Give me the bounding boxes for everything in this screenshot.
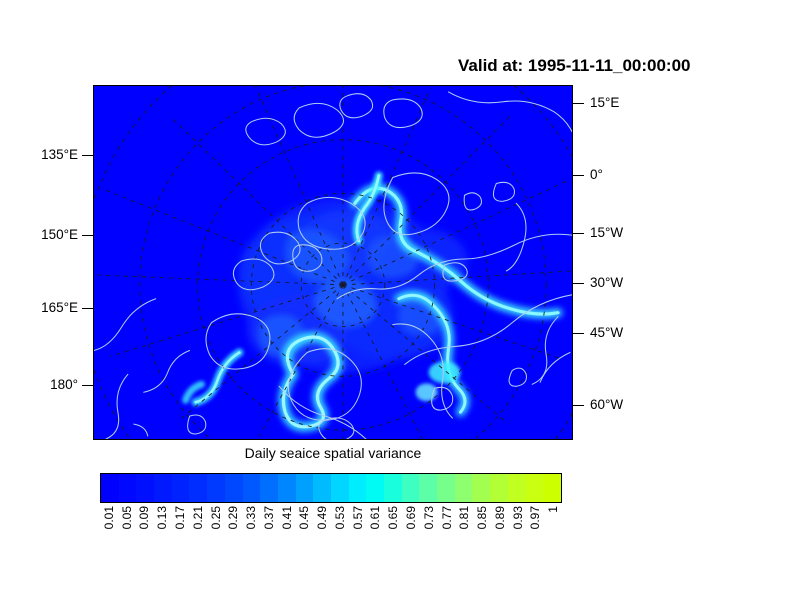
colorbar-tick-25: 1 xyxy=(547,506,559,513)
colorbar xyxy=(100,473,562,503)
colorbar-tick-6: 0.25 xyxy=(210,506,222,529)
plot-caption: Daily seaice spatial variance xyxy=(93,445,573,461)
axis-right-label-0: 15°E xyxy=(590,96,619,110)
colorbar-tick-16: 0.65 xyxy=(387,506,399,529)
tick-left-0 xyxy=(82,155,93,156)
colorbar-swatch-0 xyxy=(101,474,119,502)
colorbar-swatch-20 xyxy=(455,474,473,502)
colorbar-swatch-15 xyxy=(366,474,384,502)
tick-right-2 xyxy=(573,233,584,234)
colorbar-tick-14: 0.57 xyxy=(352,506,364,529)
colorbar-swatch-6 xyxy=(207,474,225,502)
axis-right-label-1: 0° xyxy=(590,168,603,182)
axis-right-label-3: 30°W xyxy=(590,276,623,290)
colorbar-tick-18: 0.73 xyxy=(423,506,435,529)
tick-right-0 xyxy=(573,103,584,104)
tick-left-3 xyxy=(82,385,93,386)
colorbar-tick-10: 0.41 xyxy=(281,506,293,529)
axis-left-label-0: 135°E xyxy=(41,148,78,162)
colorbar-swatch-19 xyxy=(437,474,455,502)
map-plot-area xyxy=(93,85,573,440)
colorbar-tick-11: 0.45 xyxy=(298,506,310,529)
colorbar-tick-20: 0.81 xyxy=(458,506,470,529)
colorbar-tick-7: 0.29 xyxy=(227,506,239,529)
colorbar-swatch-7 xyxy=(225,474,243,502)
axis-right-label-5: 60°W xyxy=(590,398,623,412)
colorbar-tick-23: 0.93 xyxy=(512,506,524,529)
colorbar-swatch-21 xyxy=(472,474,490,502)
tick-right-5 xyxy=(573,405,584,406)
colorbar-tick-24: 0.97 xyxy=(529,506,541,529)
axis-left-label-2: 165°E xyxy=(41,301,78,315)
tick-left-2 xyxy=(82,308,93,309)
colorbar-tick-13: 0.53 xyxy=(334,506,346,529)
colorbar-tick-19: 0.77 xyxy=(441,506,453,529)
colorbar-tick-3: 0.13 xyxy=(156,506,168,529)
colorbar-swatch-4 xyxy=(172,474,190,502)
colorbar-tick-12: 0.49 xyxy=(316,506,328,529)
colorbar-swatch-11 xyxy=(296,474,314,502)
colorbar-swatch-2 xyxy=(136,474,154,502)
colorbar-tick-0: 0.01 xyxy=(103,506,115,529)
colorbar-tick-9: 0.37 xyxy=(263,506,275,529)
colorbar-tick-22: 0.89 xyxy=(494,506,506,529)
colorbar-tick-15: 0.61 xyxy=(369,506,381,529)
colorbar-swatch-5 xyxy=(189,474,207,502)
colorbar-tick-4: 0.17 xyxy=(174,506,186,529)
colorbar-tick-labels: 0.010.050.090.130.170.210.250.290.330.37… xyxy=(100,506,562,566)
colorbar-swatch-9 xyxy=(260,474,278,502)
colorbar-tick-17: 0.69 xyxy=(405,506,417,529)
tick-right-4 xyxy=(573,333,584,334)
axis-right-label-4: 45°W xyxy=(590,326,623,340)
page-title: Valid at: 1995-11-11_00:00:00 xyxy=(458,56,691,76)
colorbar-swatch-24 xyxy=(526,474,544,502)
colorbar-swatch-25 xyxy=(543,474,561,502)
colorbar-swatch-14 xyxy=(349,474,367,502)
tick-left-1 xyxy=(82,235,93,236)
axis-right-label-2: 15°W xyxy=(590,226,623,240)
colorbar-tick-21: 0.85 xyxy=(476,506,488,529)
colorbar-swatch-16 xyxy=(384,474,402,502)
colorbar-tick-8: 0.33 xyxy=(245,506,257,529)
colorbar-swatch-18 xyxy=(419,474,437,502)
colorbar-swatch-17 xyxy=(402,474,420,502)
tick-right-3 xyxy=(573,283,584,284)
colorbar-tick-5: 0.21 xyxy=(192,506,204,529)
colorbar-tick-2: 0.09 xyxy=(138,506,150,529)
colorbar-swatch-12 xyxy=(313,474,331,502)
axis-left-label-3: 180° xyxy=(50,378,78,392)
colorbar-swatch-10 xyxy=(278,474,296,502)
colorbar-gradient xyxy=(100,473,562,503)
axis-left-label-1: 150°E xyxy=(41,228,78,242)
colorbar-tick-1: 0.05 xyxy=(121,506,133,529)
colorbar-swatch-3 xyxy=(154,474,172,502)
colorbar-swatch-22 xyxy=(490,474,508,502)
colorbar-swatch-1 xyxy=(119,474,137,502)
tick-right-1 xyxy=(573,175,584,176)
colorbar-swatch-13 xyxy=(331,474,349,502)
colorbar-swatch-23 xyxy=(508,474,526,502)
colorbar-swatch-8 xyxy=(243,474,261,502)
arctic-seaice-variance-map xyxy=(94,86,572,439)
